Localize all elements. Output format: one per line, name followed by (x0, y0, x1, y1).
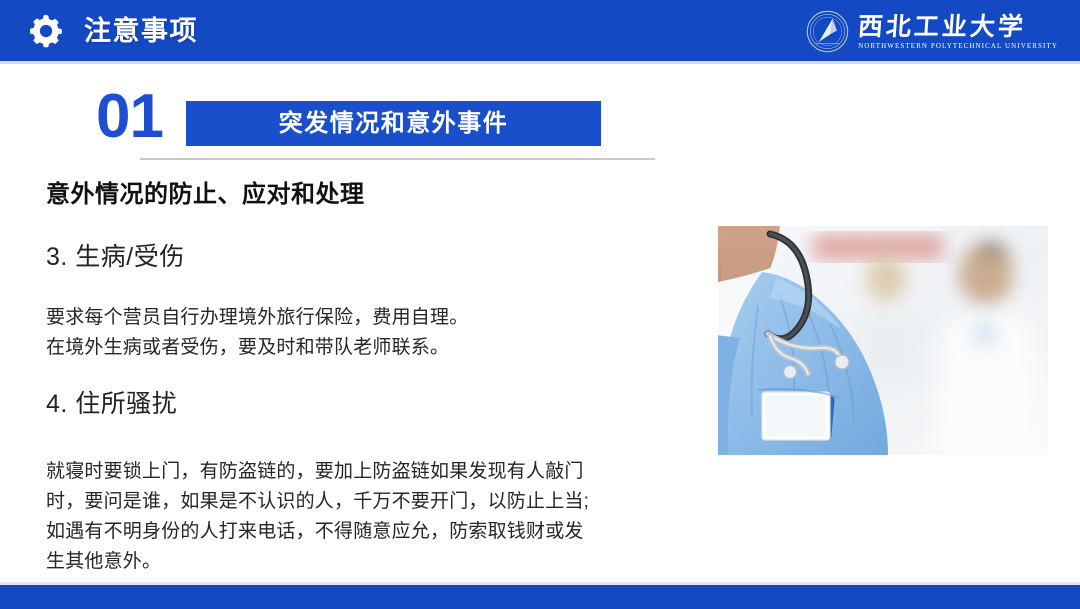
gear-icon (28, 13, 64, 49)
section-number: 01 (96, 83, 163, 151)
body-line: 时，要问是谁，如果是不认识的人，千万不要开门，以防止上当; (46, 487, 706, 517)
footer-bar (0, 585, 1080, 609)
body-line: 要求每个营员自行办理境外旅行保险，费用自理。 (46, 303, 686, 333)
section-banner-title: 突发情况和意外事件 (279, 109, 509, 139)
logo-text: 西北工业大学 NORTHWESTERN POLYTECHNICAL UNIVER… (858, 12, 1058, 51)
item-body-4: 就寝时要锁上门，有防盗链的，要加上防盗链如果发现有人敲门 时，要问是谁，如果是不… (46, 457, 706, 577)
header-underline (0, 61, 1080, 64)
logo-name-en: NORTHWESTERN POLYTECHNICAL UNIVERSITY (858, 41, 1058, 51)
medical-staff-photo (718, 226, 1048, 455)
item-body-3: 要求每个营员自行办理境外旅行保险，费用自理。 在境外生病或者受伤，要及时和带队老… (46, 303, 686, 363)
header-bar: 注意事项 西北工业大学 NORTHWESTERN POLYTECHNICAL U… (0, 0, 1080, 61)
page-title: 注意事项 (84, 11, 198, 51)
university-emblem-icon (806, 10, 849, 53)
item-heading-4: 4. 住所骚扰 (46, 386, 177, 422)
content-subtitle: 意外情况的防止、应对和处理 (46, 178, 365, 212)
section-divider (140, 158, 655, 160)
slide-root: 注意事项 西北工业大学 NORTHWESTERN POLYTECHNICAL U… (0, 0, 1080, 609)
body-line: 如遇有不明身份的人打来电话，不得随意应允，防索取钱财或发 (46, 517, 706, 547)
medical-staff-illustration (718, 226, 1048, 455)
item-heading-3: 3. 生病/受伤 (46, 239, 185, 275)
body-line: 在境外生病或者受伤，要及时和带队老师联系。 (46, 333, 686, 363)
body-line: 就寝时要锁上门，有防盗链的，要加上防盗链如果发现有人敲门 (46, 457, 706, 487)
university-logo: 西北工业大学 NORTHWESTERN POLYTECHNICAL UNIVER… (806, 8, 1058, 54)
section-banner: 突发情况和意外事件 (186, 101, 601, 146)
logo-name-cn: 西北工业大学 (857, 13, 1059, 40)
body-line: 生其他意外。 (46, 547, 706, 577)
